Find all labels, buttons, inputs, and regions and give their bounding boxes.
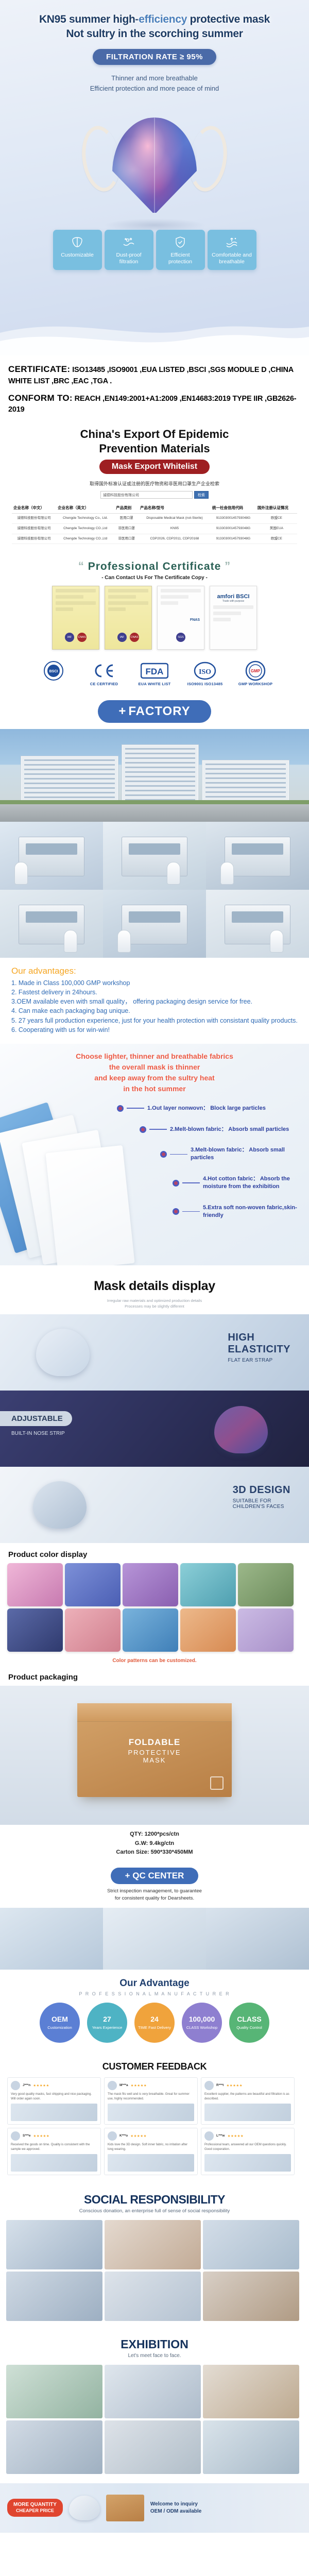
carton-subtitle: PROTECTIVE MASK (116, 1749, 193, 1764)
review-photo (108, 2104, 194, 2121)
color-swatch-ocean-wave[interactable] (123, 1608, 178, 1652)
advantage-item: 3.OEM available even with small quality，… (11, 997, 298, 1006)
cell-registration: 美国EUA (256, 523, 297, 534)
amfori-tagline: Trade with purpose (210, 600, 256, 603)
mask-thumbnail (214, 1406, 268, 1453)
feedback-header: J***n ★★★★★ (11, 2081, 97, 2090)
detail-label: ADJUSTABLE (0, 1411, 72, 1426)
carton-photo: FOLDABLE PROTECTIVE MASK (0, 1686, 309, 1825)
feature-card-customizable: Customizable (53, 230, 102, 270)
hero-title-line1-end: protective mask (187, 13, 270, 25)
color-swatch-grid (0, 1563, 309, 1652)
review-text: Excellent supplier, the patterns are bea… (204, 2092, 291, 2102)
doc-line (56, 601, 96, 605)
cell-company-en: Chengde Technology Co., Ltd. (56, 514, 114, 524)
logo-fda: FDA EUA WHITE LIST (134, 660, 175, 687)
product-color-display-section: Product color display Color patterns can… (0, 1543, 309, 1666)
detail-high-elasticity: HIGHELASTICITY FLAT EAR STRAP (0, 1314, 309, 1391)
doc-line (108, 607, 126, 611)
worker-figure (64, 930, 77, 953)
production-machine (225, 837, 290, 876)
badge-title: 27 (103, 2015, 111, 2024)
svg-text:BSCI: BSCI (49, 670, 58, 673)
cell-company-en: Chengde Technology CO.,Ltd (56, 534, 114, 544)
column-category: 产品类别 (114, 502, 139, 514)
sgs-ce-certificate-thumb[interactable]: FNAS SGS (157, 586, 204, 650)
ce-mark-icon (84, 660, 124, 682)
badge-title: CLASS (237, 2015, 261, 2024)
qc-title-band: + QC CENTER Strict inspection management… (0, 1865, 309, 1908)
conform-line: CONFORM TO: REACH ,EN149:2001+A1:2009 ,E… (8, 392, 301, 416)
footer-promo-pill: MORE QUANTITY CHEAPER PRICE (7, 2499, 63, 2517)
carton-lid (77, 1703, 232, 1722)
cell-company-cn: 诚德科技股份有限公司 (12, 523, 56, 534)
color-customization-note: Color patterns can be customized. (0, 1652, 309, 1666)
promo-line2: CHEAPER PRICE (13, 2508, 57, 2514)
logo-caption: ISO9001 ISO13485 (185, 682, 225, 687)
badge-subtitle: Years Experience (90, 2025, 125, 2030)
whitelist-caption: 取得国外标准认证或注册的医疗物资和非医用口罩生产企业检索 (0, 480, 309, 487)
review-text: The mask fits well and is very breathabl… (108, 2092, 194, 2102)
qc-note-line1: Strict inspection management, to guarant… (0, 1888, 309, 1895)
callout-leader-line (182, 1211, 200, 1212)
exhibition-photo (203, 2365, 299, 2418)
carton-label: FOLDABLE PROTECTIVE MASK (116, 1737, 193, 1764)
feedback-card: R***t ★★★★★ Excellent supplier, the patt… (201, 2077, 295, 2125)
reviewer-name: K***o (119, 2134, 128, 2138)
color-swatch-galaxy-pink[interactable] (7, 1563, 63, 1606)
reviewer-name: R***t (216, 2083, 224, 2087)
customer-feedback-heading: CUSTOMER FEEDBACK (0, 2052, 309, 2077)
production-machine (19, 837, 84, 876)
detail-adjustable: ADJUSTABLE BUILT-IN NOSE STRIP (0, 1391, 309, 1467)
detail-label: 3D DESIGN SUITABLE FORCHILDREN'S FACES (233, 1484, 290, 1510)
feature-label: Comfortable andbreathable (210, 252, 254, 265)
spec-carton-size: Carton Size: 590*330*450MM (0, 1848, 309, 1857)
factory-ground (0, 804, 309, 822)
color-swatch-tie-dye-purple[interactable] (123, 1563, 178, 1606)
logo-caption: GMP WORKSHOP (235, 682, 276, 687)
advantage-item: 5. 27 years full production experience, … (11, 1016, 298, 1025)
feedback-header: L***w ★★★★★ (204, 2131, 291, 2141)
advantage-badge-delivery: 24 TIME Fast Delivery (134, 2003, 175, 2043)
cell-company-en: Chengde Technology CO.,Ltd (56, 523, 114, 534)
callout-dot-icon (160, 1151, 167, 1158)
mask-icon (71, 235, 84, 249)
factory-building (21, 756, 118, 805)
hero-title-accent: efficiency (139, 13, 187, 25)
cell-registration: 欧盟CE (256, 534, 297, 544)
table-header-row: 企业名称（中文） 企业名称（英文） 产品类别 产品名称/型号 统一社会信用代码 … (12, 502, 297, 514)
rating-stars: ★★★★★ (226, 2083, 243, 2088)
doc-line (213, 612, 241, 615)
mask-body (112, 117, 197, 213)
cell-company-cn: 诚德科技股份有限公司 (12, 534, 56, 544)
detail-sublabel: FLAT EAR STRAP (228, 1358, 290, 1363)
quote-close: ” (225, 560, 231, 572)
production-machine (122, 905, 187, 944)
mask-details-note: Irregular raw materials and optimized pr… (0, 1298, 309, 1315)
workshop-photo (103, 890, 206, 958)
badge-title: 24 (150, 2015, 159, 2024)
feedback-card: S***e ★★★★★ Received the goods on time. … (7, 2128, 101, 2175)
detail-sublabel: SUITABLE FORCHILDREN'S FACES (233, 1498, 290, 1510)
shield-check-icon (174, 235, 186, 249)
rating-stars: ★★★★★ (33, 2083, 49, 2088)
factory-label: FACTORY (128, 704, 190, 718)
qc-photo (0, 1908, 103, 1970)
doc-line (56, 595, 83, 599)
avatar (204, 2081, 214, 2090)
note-line1: Irregular raw materials and optimized pr… (0, 1298, 309, 1303)
cell-code: 91330300145793048G (211, 523, 256, 534)
social-photo (203, 2272, 299, 2321)
qc-photo-row (0, 1908, 309, 1970)
factory-building (122, 744, 199, 805)
product-packaging-section: Product packaging FOLDABLE PROTECTIVE MA… (0, 1666, 309, 1865)
color-swatch-starry-night[interactable] (7, 1608, 63, 1652)
hero-subtitle: Thinner and more breathable Efficient pr… (0, 73, 309, 95)
hero-feature-row: Customizable Dust-prooffiltration (0, 230, 309, 270)
whitelist-search-button[interactable]: 检索 (194, 491, 209, 499)
factory-building (202, 760, 289, 805)
cell-registration: 欧盟CE (256, 514, 297, 524)
workshop-photo (103, 822, 206, 890)
fragile-mark-icon (210, 1776, 224, 1790)
badge-title: OEM (51, 2015, 68, 2024)
spec-qty: QTY: 1200*pcs/ctn (0, 1830, 309, 1839)
social-photo (203, 2220, 299, 2269)
social-photo (105, 2272, 201, 2321)
qc-note: Strict inspection management, to guarant… (0, 1888, 309, 1903)
svg-text:FDA: FDA (146, 667, 164, 676)
callout-dot-icon (117, 1105, 124, 1112)
callout-text: 4.Hot cotton fabric： Absorb the moisture… (203, 1175, 306, 1191)
exhibition-subheading: Let's meet face to face. (0, 2353, 309, 2365)
reviewer-name: J***n (23, 2083, 30, 2087)
detail-3d-design: 3D DESIGN SUITABLE FORCHILDREN'S FACES (0, 1467, 309, 1543)
advantage-badge-row: OEM Customization 27 Years Experience 24… (0, 2003, 309, 2052)
amfori-logo: amfori BSCI Trade with purpose (210, 594, 256, 603)
column-company-cn: 企业名称（中文） (12, 502, 56, 514)
table-row: 诚德科技股份有限公司 Chengde Technology CO.,Ltd 非医… (12, 523, 297, 534)
sgs-seal-icon: SGS (176, 633, 185, 642)
callout-leader-line (182, 1182, 200, 1183)
column-credit-code: 统一社会信用代码 (211, 502, 256, 514)
doc-seals: SGS (158, 633, 204, 642)
qc-center-section: + QC CENTER Strict inspection management… (0, 1865, 309, 1970)
carton-title: FOLDABLE (116, 1737, 193, 1748)
social-photo (105, 2220, 201, 2269)
hero-title-line2: Not sultry in the scorching summer (66, 28, 243, 40)
badge-title: 100,000 (189, 2015, 215, 2024)
social-responsibility-heading: SOCIAL RESPONSIBILITY (0, 2183, 309, 2208)
hero-title: KN95 summer high-efficiency protective m… (0, 12, 309, 42)
cell-model: KN95 (139, 523, 211, 534)
mask-export-whitelist-section: China's Export Of Epidemic Prevention Ma… (0, 419, 309, 549)
badge-subtitle: CLASS Workshop (184, 2025, 220, 2030)
advantage-badge-oem: OEM Customization (40, 2003, 80, 2043)
cell-model: Disposable Medical Mask (not-Sterile) (139, 514, 211, 524)
advantage-item: 4. Can make each packaging bag unique. (11, 1006, 298, 1015)
headline-line2: the overall mask is thinner (0, 1062, 309, 1073)
color-display-heading: Product color display (0, 1543, 309, 1563)
advantage-item: 2. Fastest delivery in 24hours. (11, 988, 298, 997)
certificate-line: CERTIFICATE: ISO13485 ,ISO9001 ,EUA LIST… (8, 363, 301, 387)
review-photo (11, 2154, 97, 2172)
doc-line (161, 595, 188, 599)
rating-stars: ★★★★★ (131, 2083, 147, 2088)
plus-icon: + (118, 704, 126, 718)
column-product-model: 产品名称/型号 (139, 502, 211, 514)
spec-weight: G.W: 9.4kg/ctn (0, 1839, 309, 1849)
dust-filter-icon (122, 235, 135, 249)
table-row: 诚德科技股份有限公司 Chengde Technology Co., Ltd. … (12, 514, 297, 524)
color-swatch-sunset-orange[interactable] (180, 1608, 236, 1652)
exhibition-photo (6, 2365, 102, 2418)
callout-text: 5.Extra soft non-woven fabric,skin-frien… (203, 1204, 306, 1219)
factory-exterior-photo (0, 729, 309, 822)
callout-leader-line (149, 1129, 167, 1130)
layer-callout-5: 5.Extra soft non-woven fabric,skin-frien… (173, 1204, 306, 1219)
whitelist-title-line2: Prevention Materials (99, 442, 210, 455)
packaging-heading: Product packaging (0, 1666, 309, 1686)
whitelist-title: China's Export Of Epidemic Prevention Ma… (0, 427, 309, 455)
mask-details-title: Mask details display (0, 1265, 309, 1302)
cnas-seal-icon: CNAS (130, 633, 139, 642)
footer-carton-thumbnail (106, 2495, 144, 2521)
footer-text-line1: Welcome to inquiry (150, 2501, 201, 2508)
doc-line (108, 589, 148, 592)
professional-title-text: Professional Certificate (88, 561, 221, 572)
rating-stars: ★★★★★ (228, 2134, 244, 2138)
review-text: Professional team, answered all our OEM … (204, 2143, 291, 2152)
avatar (11, 2131, 20, 2141)
feature-card-breathable: Comfortable andbreathable (208, 230, 256, 270)
rating-stars: ★★★★★ (130, 2134, 147, 2138)
feedback-card-grid: J***n ★★★★★ Very good quality masks, fas… (0, 2077, 309, 2183)
footer-mask-thumbnail (69, 2496, 100, 2520)
feedback-header: M***a ★★★★★ (108, 2081, 194, 2090)
column-registration: 国外注册认证情况 (256, 502, 297, 514)
hero-subtitle-line2: Efficient protection and more peace of m… (0, 83, 309, 94)
doc-line (108, 601, 148, 605)
review-text: Kids love the 3D design. Soft inner fabr… (108, 2143, 194, 2152)
feedback-card: K***o ★★★★★ Kids love the 3D design. Sof… (104, 2128, 198, 2175)
detail-photo: 3D DESIGN SUITABLE FORCHILDREN'S FACES (0, 1467, 309, 1543)
iaf-seal-icon: IAF (117, 633, 127, 642)
color-swatch-rose-marble[interactable] (65, 1608, 121, 1652)
advantage-badge-quality: CLASS Quality Control (229, 2003, 269, 2043)
worker-figure (14, 862, 28, 885)
callout-leader-line (170, 1154, 187, 1155)
callout-dot-icon (173, 1180, 179, 1187)
review-photo (204, 2154, 291, 2172)
our-advantages-list: 1. Made in Class 100,000 GMP workshop 2.… (11, 978, 298, 1035)
factory-section: +FACTORY (0, 693, 309, 958)
callout-dot-icon (173, 1208, 179, 1215)
logo-ce: CE CERTIFIED (84, 660, 124, 687)
social-photo (6, 2220, 102, 2269)
table-row: 诚德科技股份有限公司 Chengde Technology CO.,Ltd 非医… (12, 534, 297, 544)
our-advantage-badges-section: Our Advantage P R O F E S S I O N A L M … (0, 1970, 309, 2052)
exhibition-photo (105, 2420, 201, 2474)
certification-logo-row: BSCI CE CERTIFIED FDA EUA WHITE LIST (0, 650, 309, 690)
iso-logo-icon: ISO (185, 660, 225, 682)
whitelist-badge: Mask Export Whitelist (99, 460, 210, 474)
svg-text:ISO: ISO (199, 668, 211, 676)
our-advantages-heading: Our advantages: (11, 966, 298, 976)
logo-gmp: GMP GMP WORKSHOP (235, 660, 276, 687)
amfori-brand: amfori (217, 594, 235, 600)
cell-company-cn: 诚德科技股份有限公司 (12, 514, 56, 524)
advantage-badge-years: 27 Years Experience (87, 2003, 127, 2043)
color-swatch-camo-green[interactable] (238, 1563, 294, 1606)
workshop-photo (206, 822, 309, 890)
our-advantages-section: Our advantages: 1. Made in Class 100,000… (0, 958, 309, 1044)
carton-box: FOLDABLE PROTECTIVE MASK (77, 1703, 232, 1797)
feedback-header: S***e ★★★★★ (11, 2131, 97, 2141)
certificate-label: CERTIFICATE: (8, 364, 70, 374)
professional-certificate-title: “ Professional Certificate ” (0, 560, 309, 573)
amfori-bsci-certificate-thumb[interactable]: amfori BSCI Trade with purpose (210, 586, 257, 650)
hero-section: KN95 summer high-efficiency protective m… (0, 0, 309, 355)
hero-subtitle-line1: Thinner and more breathable (0, 73, 309, 84)
feedback-card: M***a ★★★★★ The mask fits well and is ve… (104, 2077, 198, 2125)
production-photo-grid (0, 822, 309, 958)
cnas-seal-icon: CNAS (77, 633, 87, 642)
whitelist-search-bar[interactable]: 检索 (100, 491, 209, 499)
column-company-en: 企业名称（英文） (56, 502, 114, 514)
exhibition-section: EXHIBITION Let's meet face to face. (0, 2329, 309, 2483)
advantage-item: 6. Cooperating with us for win-win! (11, 1025, 298, 1035)
reviewer-name: M***a (119, 2083, 128, 2087)
bsci-seal-icon: BSCI (33, 660, 74, 682)
doc-line (56, 589, 96, 592)
svg-text:GMP: GMP (251, 669, 261, 673)
gmp-seal-icon: GMP (235, 660, 276, 682)
advantage-item: 1. Made in Class 100,000 GMP workshop (11, 978, 298, 988)
note-line2: Processes may be slightly different (0, 1303, 309, 1309)
packaging-specs: QTY: 1200*pcs/ctn G.W: 9.4kg/ctn Carton … (0, 1825, 309, 1865)
cell-category: 非医用口罩 (114, 523, 139, 534)
badge-subtitle: Quality Control (234, 2025, 265, 2030)
mask-artwork (85, 117, 224, 226)
factory-title-band: +FACTORY (0, 693, 309, 729)
feature-label: Dust-prooffiltration (114, 252, 143, 265)
cell-model: CDP2026, CDP2011, CDP20168 (139, 534, 211, 544)
workshop-photo (0, 890, 103, 958)
iaf-seal-icon: IAF (65, 633, 74, 642)
social-responsibility-section: SOCIAL RESPONSIBILITY Conscious donation… (0, 2183, 309, 2329)
social-photo (6, 2272, 102, 2321)
feature-label: Customizable (59, 252, 96, 259)
exhibition-photo (203, 2420, 299, 2474)
color-swatch-tie-dye-teal[interactable] (180, 1563, 236, 1606)
review-text: Very good quality masks, fast shipping a… (11, 2092, 97, 2102)
fnas-mark: FNAS (190, 618, 200, 622)
detail-photo: HIGHELASTICITY FLAT EAR STRAP (0, 1314, 309, 1391)
detail-label: HIGHELASTICITY FLAT EAR STRAP (228, 1332, 290, 1363)
mask-seam (154, 117, 155, 213)
iso13485-certificate-thumb[interactable]: IAF CNAS (52, 586, 99, 650)
qc-photo (103, 1908, 206, 1970)
breathable-icon (225, 235, 238, 249)
exhibition-heading: EXHIBITION (0, 2329, 309, 2353)
hero-title-line1: KN95 summer high- (39, 13, 139, 25)
our-advantage-heading: Our Advantage (0, 1970, 309, 1991)
rating-stars: ★★★★★ (33, 2134, 50, 2138)
worker-figure (220, 862, 234, 885)
worker-figure (117, 930, 131, 953)
logo-bsci: BSCI (33, 660, 74, 682)
exhibition-photo-grid (0, 2365, 309, 2483)
color-swatch-lilac-mist[interactable] (238, 1608, 294, 1652)
exhibition-photo (105, 2365, 201, 2418)
mask-thumbnail (36, 1329, 90, 1376)
avatar (108, 2081, 117, 2090)
headline-line1: Choose lighter, thinner and breathable f… (0, 1051, 309, 1062)
iso9001-certificate-thumb[interactable]: IAF CNAS (105, 586, 152, 650)
feedback-card: J***n ★★★★★ Very good quality masks, fas… (7, 2077, 101, 2125)
detail-photo: ADJUSTABLE BUILT-IN NOSE STRIP (0, 1391, 309, 1467)
footer-promo-banner: MORE QUANTITY CHEAPER PRICE Welcome to i… (0, 2483, 309, 2533)
badge-subtitle: TIME Fast Delivery (135, 2025, 174, 2030)
headline-line4: in the hot summer (0, 1083, 309, 1094)
advantage-badge-workshop: 100,000 CLASS Workshop (182, 2003, 222, 2043)
product-detail-page: KN95 summer high-efficiency protective m… (0, 0, 309, 2533)
avatar (204, 2131, 214, 2141)
avatar (11, 2081, 20, 2090)
review-photo (11, 2104, 97, 2121)
callout-text: 2.Melt-blown fabric： Absorb small partic… (170, 1126, 289, 1133)
conform-label: CONFORM TO: (8, 393, 73, 403)
review-text: Received the goods on time. Quality is c… (11, 2143, 97, 2152)
qc-note-line2: for consistent quality for Dearsheets. (0, 1895, 309, 1902)
whitelist-search-input[interactable] (100, 491, 193, 499)
workshop-photo (0, 822, 103, 890)
professional-certificate-section: “ Professional Certificate ” - Can Conta… (0, 549, 309, 693)
qc-photo (206, 1908, 309, 1970)
callout-text: 1.Out layer nonwovn： Block large particl… (147, 1105, 266, 1112)
doc-line (213, 618, 231, 621)
layer-callout-1: 1.Out layer nonwovn： Block large particl… (117, 1105, 306, 1112)
bsci-tag: BSCI (236, 594, 249, 600)
logo-iso: ISO ISO9001 ISO13485 (185, 660, 225, 687)
review-photo (108, 2154, 194, 2172)
feature-card-dust-proof: Dust-prooffiltration (105, 230, 153, 270)
layer-callout-4: 4.Hot cotton fabric： Absorb the moisture… (173, 1175, 306, 1191)
doc-line (56, 607, 73, 611)
avatar (108, 2131, 117, 2141)
doc-line (108, 595, 136, 599)
doc-line (161, 601, 178, 605)
doc-line (213, 605, 253, 609)
footer-text-line2: OEM / ODM available (150, 2508, 201, 2515)
fabric-layers-headline: Choose lighter, thinner and breathable f… (0, 1044, 309, 1094)
social-photo-grid (0, 2220, 309, 2329)
exhibition-photo (6, 2420, 102, 2474)
logo-caption: CE CERTIFIED (84, 682, 124, 687)
feedback-card: L***w ★★★★★ Professional team, answered … (201, 2128, 295, 2175)
detail-sublabel: BUILT-IN NOSE STRIP (11, 1431, 65, 1436)
color-swatch-galaxy-blue[interactable] (65, 1563, 121, 1606)
badge-subtitle: Customization (45, 2025, 75, 2030)
social-responsibility-subheading: Conscious donation, an enterprise full o… (0, 2208, 309, 2220)
worker-figure (167, 862, 180, 885)
review-photo (204, 2104, 291, 2121)
fda-logo-icon: FDA (134, 660, 175, 682)
